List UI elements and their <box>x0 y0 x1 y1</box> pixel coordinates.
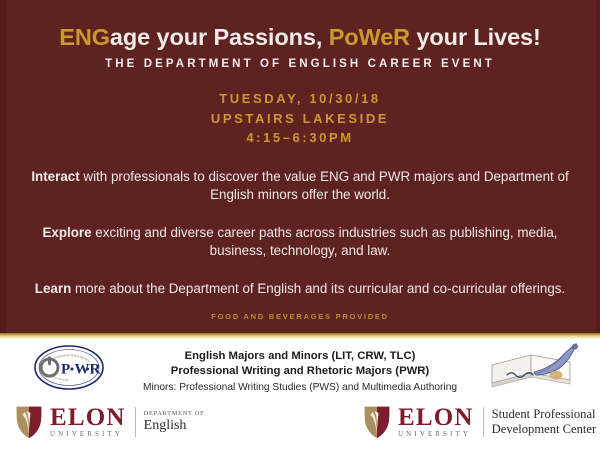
footer-section: P W R Professional Writing Rhetoric Elon… <box>0 339 600 450</box>
unit-title-line-2: Development Center <box>492 422 597 437</box>
title-age-your-passions: age your Passions, <box>110 24 329 50</box>
unit-name-english: DEPARTMENT OF English <box>144 410 205 434</box>
program-minors: Minors: Professional Writing Studies (PW… <box>143 380 457 395</box>
elon-wordmark-sub: UNIVERSITY <box>50 430 126 438</box>
logo-divider-rule <box>135 407 136 437</box>
page-title: ENGage your Passions, PoWeR your Lives! <box>0 0 600 51</box>
paragraph-lead-interact: Interact <box>31 169 79 184</box>
program-line-1: English Majors and Minors (LIT, CRW, TLC… <box>143 349 457 365</box>
unit-prefix-department-of: DEPARTMENT OF <box>144 410 205 418</box>
programs-row: P W R Professional Writing Rhetoric Elon… <box>0 339 600 401</box>
unit-name-spdc: Student Professional Development Center <box>492 407 597 437</box>
title-power: PoWeR <box>329 24 410 50</box>
subtitle: THE DEPARTMENT OF ENGLISH CAREER EVENT <box>0 58 600 70</box>
elon-shield-icon <box>362 404 392 440</box>
program-line-2: Professional Writing and Rhetoric Majors… <box>143 364 457 380</box>
logo-elon-department-of-english: ELON UNIVERSITY DEPARTMENT OF English <box>14 404 204 440</box>
event-date: TUESDAY, 10/30/18 <box>0 89 600 109</box>
paragraph-body-explore: exciting and diverse career paths across… <box>92 225 558 258</box>
logo-elon-student-professional-development-center: ELON UNIVERSITY Student Professional Dev… <box>362 404 596 440</box>
elon-wordmark-main: ELON <box>50 406 126 430</box>
event-location: UPSTAIRS LAKESIDE <box>0 109 600 129</box>
title-eng: ENG <box>59 24 110 50</box>
elon-shield-icon <box>14 404 44 440</box>
elon-wordmark: ELON UNIVERSITY <box>398 406 474 439</box>
left-edge-stripe <box>0 0 7 333</box>
paragraph-explore: Explore exciting and diverse career path… <box>14 224 586 260</box>
paragraph-body-learn: more about the Department of English and… <box>71 281 565 296</box>
elon-wordmark-main: ELON <box>398 406 474 430</box>
hero-section: ENGage your Passions, PoWeR your Lives! … <box>0 0 600 333</box>
paragraph-lead-learn: Learn <box>35 281 71 296</box>
svg-text:R: R <box>90 362 101 378</box>
paragraph-lead-explore: Explore <box>42 225 91 240</box>
svg-text:P: P <box>61 362 70 378</box>
program-list: English Majors and Minors (LIT, CRW, TLC… <box>143 345 457 395</box>
paragraph-learn: Learn more about the Department of Engli… <box>14 280 586 298</box>
paragraph-interact: Interact with professionals to discover … <box>14 168 586 204</box>
right-edge-stripe <box>596 0 600 333</box>
food-note: FOOD AND BEVERAGES PROVIDED <box>0 312 600 321</box>
unit-title-english: English <box>144 418 205 435</box>
open-book-with-quill-icon <box>486 342 582 394</box>
logo-divider-rule <box>483 407 484 437</box>
event-poster: ENGage your Passions, PoWeR your Lives! … <box>0 0 600 450</box>
event-details: TUESDAY, 10/30/18 UPSTAIRS LAKESIDE 4:15… <box>0 89 600 148</box>
power-oval-logo-icon: P W R Professional Writing Rhetoric Elon… <box>33 344 105 391</box>
event-time: 4:15–6:30PM <box>0 128 600 148</box>
body-paragraphs: Interact with professionals to discover … <box>0 168 600 298</box>
unit-title-line-1: Student Professional <box>492 407 597 422</box>
title-your-lives: your Lives! <box>410 24 541 50</box>
elon-wordmark-sub: UNIVERSITY <box>398 430 474 438</box>
institution-logos: ELON UNIVERSITY DEPARTMENT OF English <box>0 401 600 450</box>
elon-wordmark: ELON UNIVERSITY <box>50 406 126 439</box>
paragraph-body-interact: with professionals to discover the value… <box>80 169 569 202</box>
